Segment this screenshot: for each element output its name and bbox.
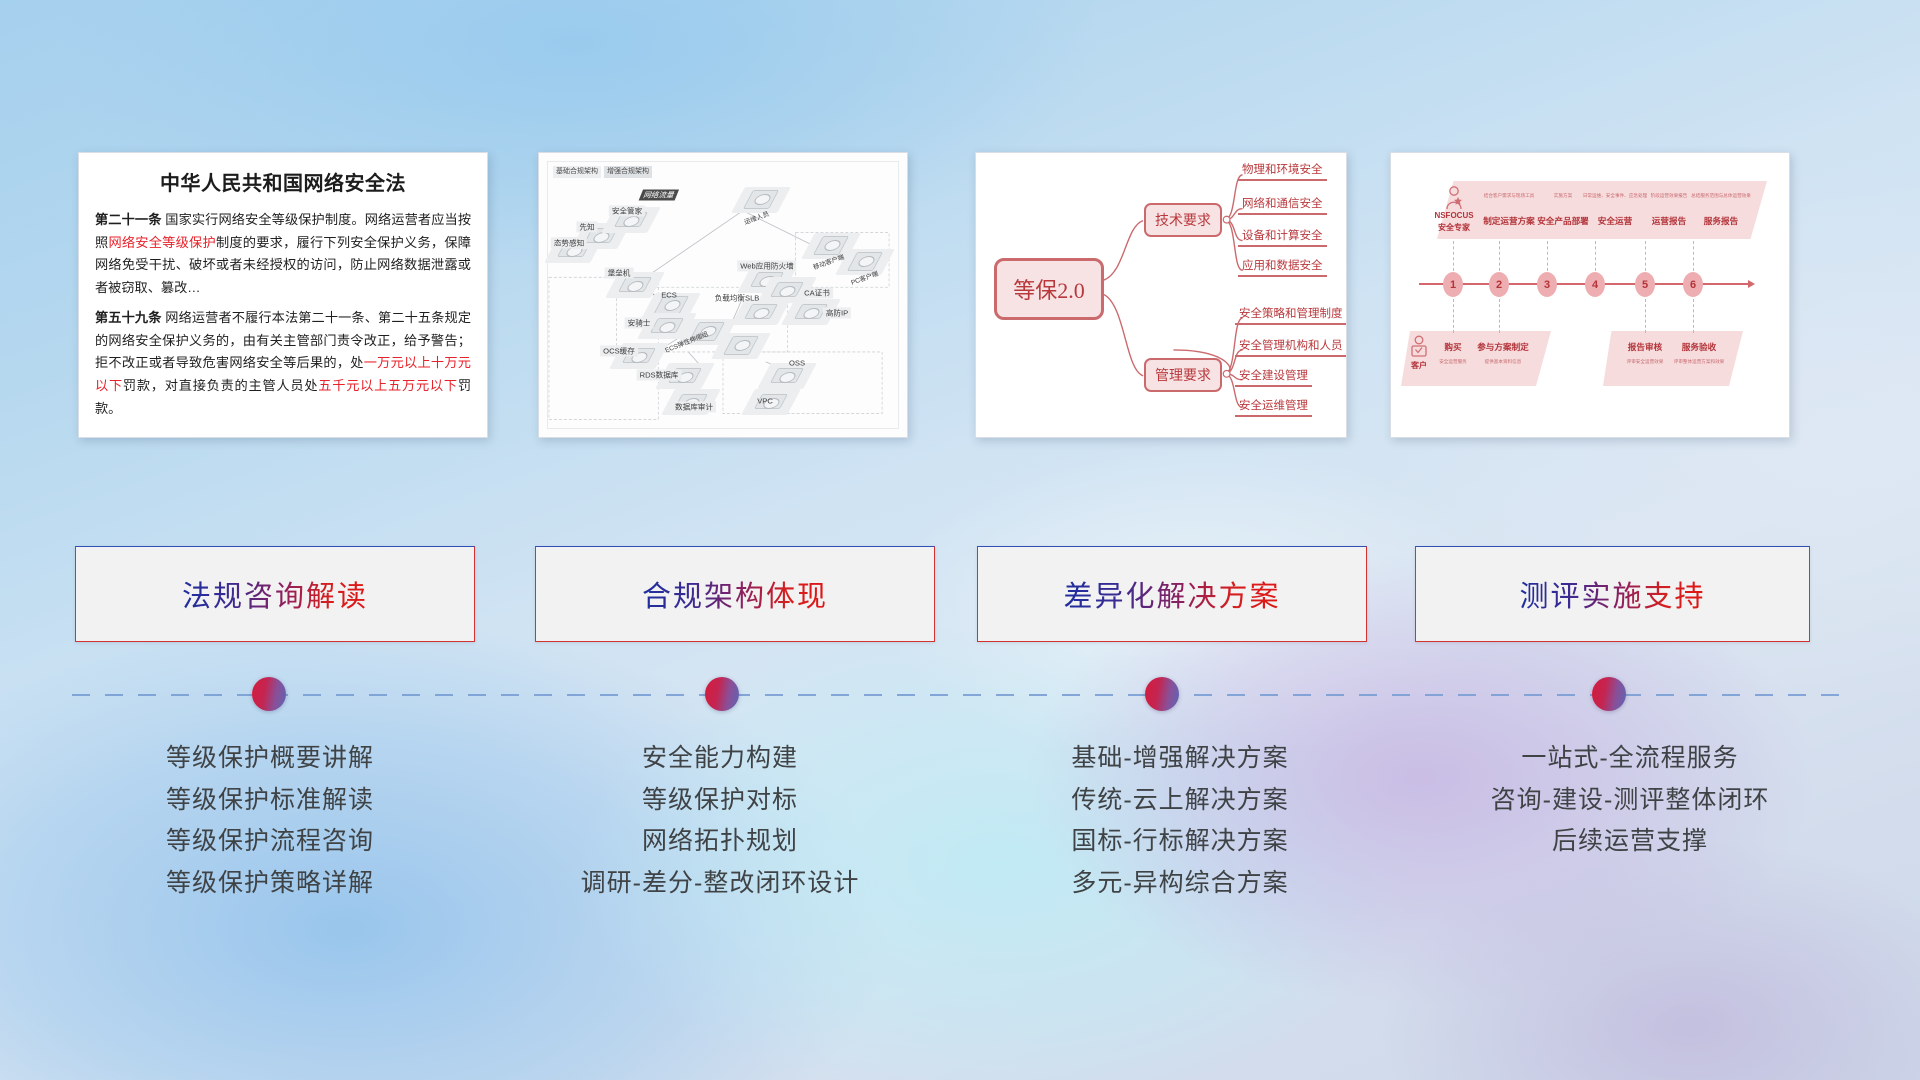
headline-label-1: 法规咨询解读	[182, 573, 368, 615]
step-6b-sub: 评审整体运营方案和效果	[1674, 359, 1725, 365]
timeline-step-3[interactable]: 3	[1537, 272, 1557, 297]
actor-customer-role: 客户	[1411, 360, 1427, 371]
arch-label-db-audit: 数据库审计	[672, 401, 716, 412]
step-6-sub: 总结服务范围与总体运营效果	[1691, 193, 1751, 199]
list-item: 安全能力构建	[500, 738, 940, 780]
arch-label-network-traffic: 网络流量	[639, 189, 680, 200]
list-item: 多元-异构综合方案	[960, 863, 1400, 905]
headline-box-compliance-architecture[interactable]: 合规架构体现	[535, 546, 935, 642]
feature-columns: 等级保护概要讲解 等级保护标准解读 等级保护流程咨询 等级保护策略详解 安全能力…	[0, 738, 1920, 1038]
timeline-step-6[interactable]: 6	[1683, 272, 1703, 297]
step-2-sub: 结合客户需求与现场工具	[1484, 193, 1535, 199]
list-item: 后续运营支撑	[1400, 821, 1860, 863]
step-2-title: 制定运营方案	[1483, 215, 1535, 227]
arch-label-ocs-cache: OCS缓存	[600, 345, 638, 356]
card-cloud-architecture[interactable]: 基础合规架构 增强合规架构	[538, 152, 908, 438]
list-item: 国标-行标解决方案	[960, 821, 1400, 863]
card-cybersecurity-law[interactable]: 中华人民共和国网络安全法 第二十一条 国家实行网络安全等级保护制度。网络运营者应…	[78, 152, 488, 438]
timeline-step-5[interactable]: 5	[1635, 272, 1655, 297]
timeline-step-2[interactable]: 2	[1489, 272, 1509, 297]
law-article-21: 第二十一条 国家实行网络安全等级保护制度。网络运营者应当按照网络安全等级保护制度…	[95, 209, 471, 300]
headline-label-3: 差异化解决方案	[1063, 573, 1280, 615]
step-2b-title: 参与方案制定	[1477, 341, 1529, 353]
law-article-59: 第五十九条 网络运营者不履行本法第二十一条、第二十五条规定的网络安全保护义务的，…	[95, 307, 471, 421]
timeline-step-1[interactable]: 1	[1443, 272, 1463, 297]
mindmap-root[interactable]: 等保2.0	[994, 258, 1104, 320]
preview-cards-row: 中华人民共和国网络安全法 第二十一条 国家实行网络安全等级保护制度。网络运营者应…	[0, 152, 1920, 442]
step-4-title: 安全运营	[1598, 215, 1632, 227]
step-4-sub: 日常运维、安全事件、应急处理	[1583, 193, 1647, 199]
list-item: 基础-增强解决方案	[960, 738, 1400, 780]
list-item: 等级保护对标	[500, 780, 940, 822]
timeline-dashed-line	[72, 694, 1854, 696]
article-59-text-2: 罚款，对直接负责的主管人员处	[123, 378, 318, 393]
arch-label-xianzhi: 先知	[576, 221, 597, 232]
article-21-label: 第二十一条	[95, 212, 162, 227]
mindmap-leaf-policy-system: 安全策略和管理制度	[1235, 305, 1347, 325]
actor-nsfocus-role: 安全专家	[1438, 222, 1470, 233]
arch-label-situation-awareness: 态势感知	[551, 237, 587, 248]
step-6-title: 服务报告	[1704, 215, 1738, 227]
article-21-highlight: 网络安全等级保护	[108, 235, 216, 250]
list-item: 等级保护策略详解	[60, 863, 480, 905]
list-item: 一站式-全流程服务	[1400, 738, 1860, 780]
headline-box-differentiated-solution[interactable]: 差异化解决方案	[977, 546, 1367, 642]
arch-label-ca-certificate: CA证书	[801, 287, 833, 298]
mindmap-leaf-construction: 安全建设管理	[1235, 367, 1312, 387]
headline-label-4: 测评实施支持	[1519, 573, 1705, 615]
list-item: 网络拓扑规划	[500, 821, 940, 863]
list-item: 传统-云上解决方案	[960, 780, 1400, 822]
step-2b-sub: 提供基本资料信息	[1485, 359, 1522, 365]
step-5-title: 运营报告	[1652, 215, 1686, 227]
feature-column-3: 基础-增强解决方案 传统-云上解决方案 国标-行标解决方案 多元-异构综合方案	[960, 738, 1400, 904]
headline-box-assessment-support[interactable]: 测评实施支持	[1415, 546, 1810, 642]
feature-column-2: 安全能力构建 等级保护对标 网络拓扑规划 调研-差分-整改闭环设计	[500, 738, 940, 904]
mindmap-leaf-operations: 安全运维管理	[1235, 397, 1312, 417]
headline-row: 法规咨询解读 合规架构体现 差异化解决方案 测评实施支持	[0, 546, 1920, 642]
list-item: 等级保护标准解读	[60, 780, 480, 822]
article-59-label: 第五十九条	[95, 310, 162, 325]
article-59-highlight-2: 五千元以上五万元以下	[318, 378, 458, 393]
arch-label-waf: Web应用防火墙	[737, 260, 796, 271]
customer-icon	[1409, 335, 1429, 359]
mindmap-leaf-org-personnel: 安全管理机构和人员	[1235, 337, 1347, 357]
list-item: 等级保护概要讲解	[60, 738, 480, 780]
law-title: 中华人民共和国网络安全法	[95, 167, 471, 196]
timeline-node-4[interactable]	[1592, 677, 1626, 711]
step-5b-sub: 评审安全运营效果	[1627, 359, 1664, 365]
feature-column-4: 一站式-全流程服务 咨询-建设-测评整体闭环 后续运营支撑	[1400, 738, 1860, 863]
actor-nsfocus-name: NSFOCUS	[1434, 211, 1473, 220]
step-1-title: 购买	[1444, 341, 1461, 353]
list-item: 等级保护流程咨询	[60, 821, 480, 863]
arch-label-anqishi: 安骑士	[625, 317, 654, 328]
headline-label-2: 合规架构体现	[642, 573, 828, 615]
arch-label-bastion-host: 堡垒机	[605, 267, 634, 278]
feature-column-1: 等级保护概要讲解 等级保护标准解读 等级保护流程咨询 等级保护策略详解	[60, 738, 480, 904]
timeline-node-1[interactable]	[252, 677, 286, 711]
step-5b-title: 报告审核	[1628, 341, 1662, 353]
security-expert-icon	[1443, 185, 1465, 211]
arch-label-slb: 负载均衡SLB	[712, 292, 763, 303]
step-6b-title: 服务验收	[1682, 341, 1716, 353]
timeline-step-4[interactable]: 4	[1585, 272, 1605, 297]
arch-label-vpc: VPC	[754, 395, 776, 406]
card-mindmap-dengbao[interactable]: 等保2.0 技术要求 管理要求 物理和环境安全 网络和通信安全 设备和计算安全 …	[975, 152, 1347, 438]
mindmap-leaf-app-data: 应用和数据安全	[1238, 257, 1327, 277]
arch-label-anti-ddos-ip: 高防IP	[823, 307, 851, 318]
arch-label-rds-database: RDS数据库	[637, 369, 682, 380]
step-5-sub: 阶段运营效果报告	[1651, 193, 1688, 199]
arch-label-oss: OSS	[786, 357, 808, 368]
mindmap-leaf-device-compute: 设备和计算安全	[1238, 227, 1327, 247]
mindmap-branch-management[interactable]: 管理要求	[1144, 358, 1222, 392]
arch-label-security-butler: 安全管家	[609, 205, 645, 216]
timeline-node-3[interactable]	[1145, 677, 1179, 711]
step-3-sub: 实施方案	[1554, 193, 1572, 199]
timeline-node-2[interactable]	[705, 677, 739, 711]
list-item: 咨询-建设-测评整体闭环	[1400, 780, 1860, 822]
card-service-timeline[interactable]: NSFOCUS 安全专家 客户 1 2 3 4 5 6	[1390, 152, 1790, 438]
arch-label-ecs: ECS	[658, 289, 680, 300]
headline-box-regulation-consulting[interactable]: 法规咨询解读	[75, 546, 475, 642]
mindmap-leaf-network-comm: 网络和通信安全	[1238, 195, 1327, 215]
mindmap-branch-technical[interactable]: 技术要求	[1144, 203, 1222, 237]
progress-timeline	[72, 693, 1854, 697]
step-1-sub: 安全运营服务	[1439, 359, 1467, 365]
step-3-title: 安全产品部署	[1537, 215, 1589, 227]
mindmap-leaf-physical-env: 物理和环境安全	[1238, 161, 1327, 181]
list-item: 调研-差分-整改闭环设计	[500, 863, 940, 905]
